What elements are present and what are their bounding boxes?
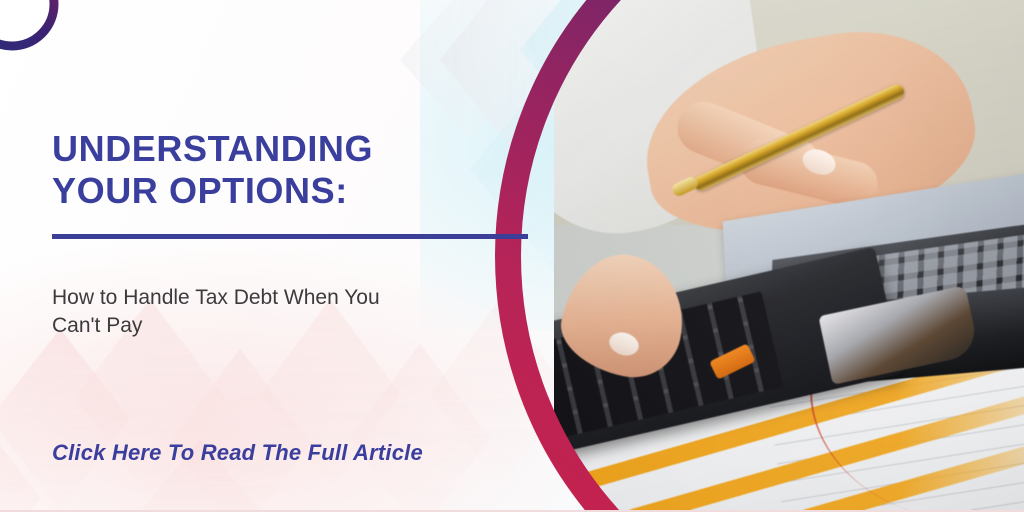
hero-photo: [554, 0, 1024, 512]
read-full-article-link[interactable]: Click Here To Read The Full Article: [52, 440, 423, 466]
page-title: UNDERSTANDING YOUR OPTIONS:: [52, 128, 373, 212]
banner-content: UNDERSTANDING YOUR OPTIONS: How to Handl…: [52, 0, 552, 512]
promo-banner: UNDERSTANDING YOUR OPTIONS: How to Handl…: [0, 0, 1024, 512]
gradient-ring-icon: [0, 0, 60, 52]
hero-photo-image: [554, 0, 1024, 512]
title-divider: [52, 234, 528, 239]
subtitle: How to Handle Tax Debt When You Can't Pa…: [52, 284, 422, 340]
